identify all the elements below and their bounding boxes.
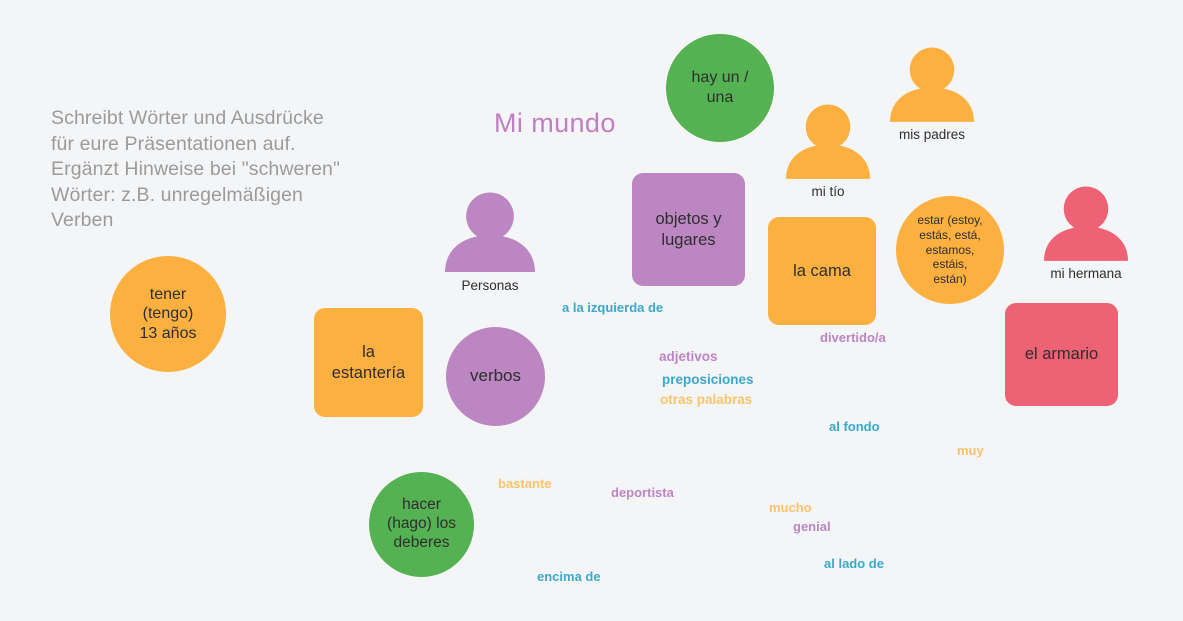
word-encima-de[interactable]: encima de [537, 569, 601, 584]
word-bastante[interactable]: bastante [498, 476, 551, 491]
word-al-fondo[interactable]: al fondo [829, 419, 880, 434]
word-mucho[interactable]: mucho [769, 500, 812, 515]
word-al-lado-de[interactable]: al lado de [824, 556, 884, 571]
word-divertido[interactable]: divertido/a [820, 330, 886, 345]
person-silhouette-icon [890, 47, 974, 122]
word-otras-palabras[interactable]: otras palabras [660, 392, 752, 407]
instructions-text: Schreibt Wörter und Ausdrücke für eure P… [51, 106, 351, 234]
slide-canvas: Schreibt Wörter und Ausdrücke für eure P… [0, 0, 1183, 621]
shape-label: la cama [793, 261, 851, 281]
word-a-la-izquierda-de[interactable]: a la izquierda de [562, 300, 663, 315]
person-icon-label: mis padres [899, 127, 965, 142]
shape-label: el armario [1025, 344, 1098, 364]
shape-label: hay un / una [692, 68, 749, 107]
shape-label: estar (estoy, estás, está, estamos, está… [917, 213, 982, 286]
la-estanteria-rect[interactable]: la estantería [314, 308, 423, 417]
person-icon-label: Personas [461, 278, 518, 293]
personas-person-icon[interactable]: Personas [445, 192, 535, 272]
mi-hermana-person-icon[interactable]: mi hermana [1044, 186, 1128, 261]
word-preposiciones[interactable]: preposiciones [662, 372, 754, 387]
verbos-circle[interactable]: verbos [446, 327, 545, 426]
word-muy[interactable]: muy [957, 443, 984, 458]
shape-label: hacer (hago) los deberes [387, 496, 456, 553]
la-cama-rect[interactable]: la cama [768, 217, 876, 325]
word-genial[interactable]: genial [793, 519, 831, 534]
estar-circle[interactable]: estar (estoy, estás, está, estamos, está… [896, 196, 1004, 304]
el-armario-rect[interactable]: el armario [1005, 303, 1118, 406]
shape-label: tener (tengo) 13 años [140, 285, 197, 344]
mi-tio-person-icon[interactable]: mi tío [786, 104, 870, 179]
mis-padres-person-icon[interactable]: mis padres [890, 47, 974, 122]
hacer-deberes-circle[interactable]: hacer (hago) los deberes [369, 472, 474, 577]
shape-label: la estantería [332, 342, 405, 382]
shape-label: objetos y lugares [655, 209, 721, 249]
word-deportista[interactable]: deportista [611, 485, 674, 500]
objetos-y-lugares-rect[interactable]: objetos y lugares [632, 173, 745, 286]
person-silhouette-icon [445, 192, 535, 272]
person-silhouette-icon [1044, 186, 1128, 261]
person-silhouette-icon [786, 104, 870, 179]
tener-circle[interactable]: tener (tengo) 13 años [110, 256, 226, 372]
page-title: Mi mundo [494, 108, 616, 139]
hay-un-una-circle[interactable]: hay un / una [666, 34, 774, 142]
word-adjetivos[interactable]: adjetivos [659, 349, 718, 364]
person-icon-label: mi tío [811, 184, 844, 199]
shape-label: verbos [470, 366, 521, 387]
person-icon-label: mi hermana [1050, 266, 1121, 281]
